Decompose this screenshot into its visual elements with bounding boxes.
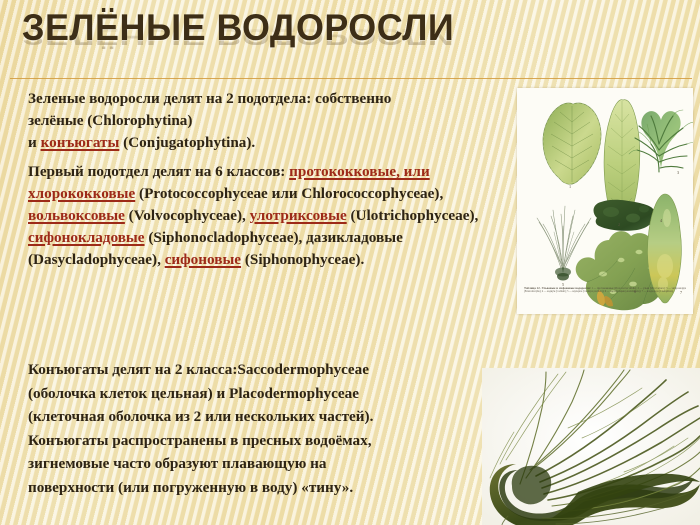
filamentous-algae-graphic: [482, 368, 700, 525]
body-text-block: Зеленые водоросли делят на 2 подотдела: …: [28, 88, 498, 271]
paragraph2-seg1: Первый подотдел делят на 6 классов:: [28, 163, 289, 180]
algae-illustration-plate: 1 2 3 4 5 6 7 Таблица 22. Ульвовые и сиф…: [517, 88, 693, 314]
paragraph3-line3: (клеточная оболочка из 2 или нескольких …: [28, 408, 373, 425]
paragraph3-line1: Конъюгаты делят на 2 класса:Saccodermoph…: [28, 361, 369, 378]
svg-text:1: 1: [569, 184, 571, 189]
plate-caption: Таблица 22. Ульвовые и сифоновые водорос…: [524, 287, 686, 309]
paragraph1-line1: Зеленые водоросли делят на 2 подотдела: …: [28, 90, 391, 107]
page-title: ЗЕЛЁНЫЕ ВОДОРОСЛИ: [22, 8, 454, 48]
term-sifonokladovye: сифонокладовые: [28, 229, 145, 246]
paragraph-subdivisions: Зеленые водоросли делят на 2 подотдела: …: [28, 88, 498, 154]
algae-photo: [482, 368, 700, 525]
paragraph3-line2: (оболочка клеток цельная) и Placodermoph…: [28, 385, 359, 402]
paragraph-conjugates: Конъюгаты делят на 2 класса:Saccodermoph…: [28, 358, 488, 499]
paragraph2-seg2: (Protococcophyceae или Chlorococcophycea…: [135, 185, 443, 202]
paragraph2-seg4: (Ulotrichophyceae),: [347, 207, 479, 224]
paragraph1-line3-prefix: и: [28, 134, 41, 151]
term-konyugaty: конъюгаты: [41, 134, 120, 151]
svg-text:2: 2: [618, 222, 620, 227]
title-band: ЗЕЛЁНЫЕ ВОДОРОСЛИ ЗЕЛЁНЫЕ ВОДОРОСЛИ: [0, 0, 700, 78]
term-sifonovye: сифоновые: [165, 251, 241, 268]
title-divider: [10, 78, 692, 79]
paragraph-classes: Первый подотдел делят на 6 классов: прот…: [28, 161, 498, 271]
paragraph3-line5: зигнемовые часто образуют плавающую на: [28, 455, 326, 472]
paragraph1-line2: зелёные (Chlorophytina): [28, 112, 192, 129]
svg-text:3: 3: [677, 170, 679, 175]
slide: ЗЕЛЁНЫЕ ВОДОРОСЛИ ЗЕЛЁНЫЕ ВОДОРОСЛИ Зеле…: [0, 0, 700, 525]
algae-plate-graphic: 1 2 3 4 5 6 7: [517, 88, 693, 314]
paragraph2-seg6: (Siphonophyceae).: [241, 251, 364, 268]
paragraph1-line3-suffix: (Conjugatophytina).: [119, 134, 255, 151]
paragraph3-line6: поверхности (или погруженную в воду) «ти…: [28, 479, 353, 496]
term-volvoksovye: вольвоксовые: [28, 207, 125, 224]
term-ulotriksovye: улотриксовые: [250, 207, 347, 224]
paragraph3-line4: Конъюгаты распространены в пресных водоё…: [28, 432, 372, 449]
paragraph2-seg3: (Volvocophyceae),: [125, 207, 250, 224]
